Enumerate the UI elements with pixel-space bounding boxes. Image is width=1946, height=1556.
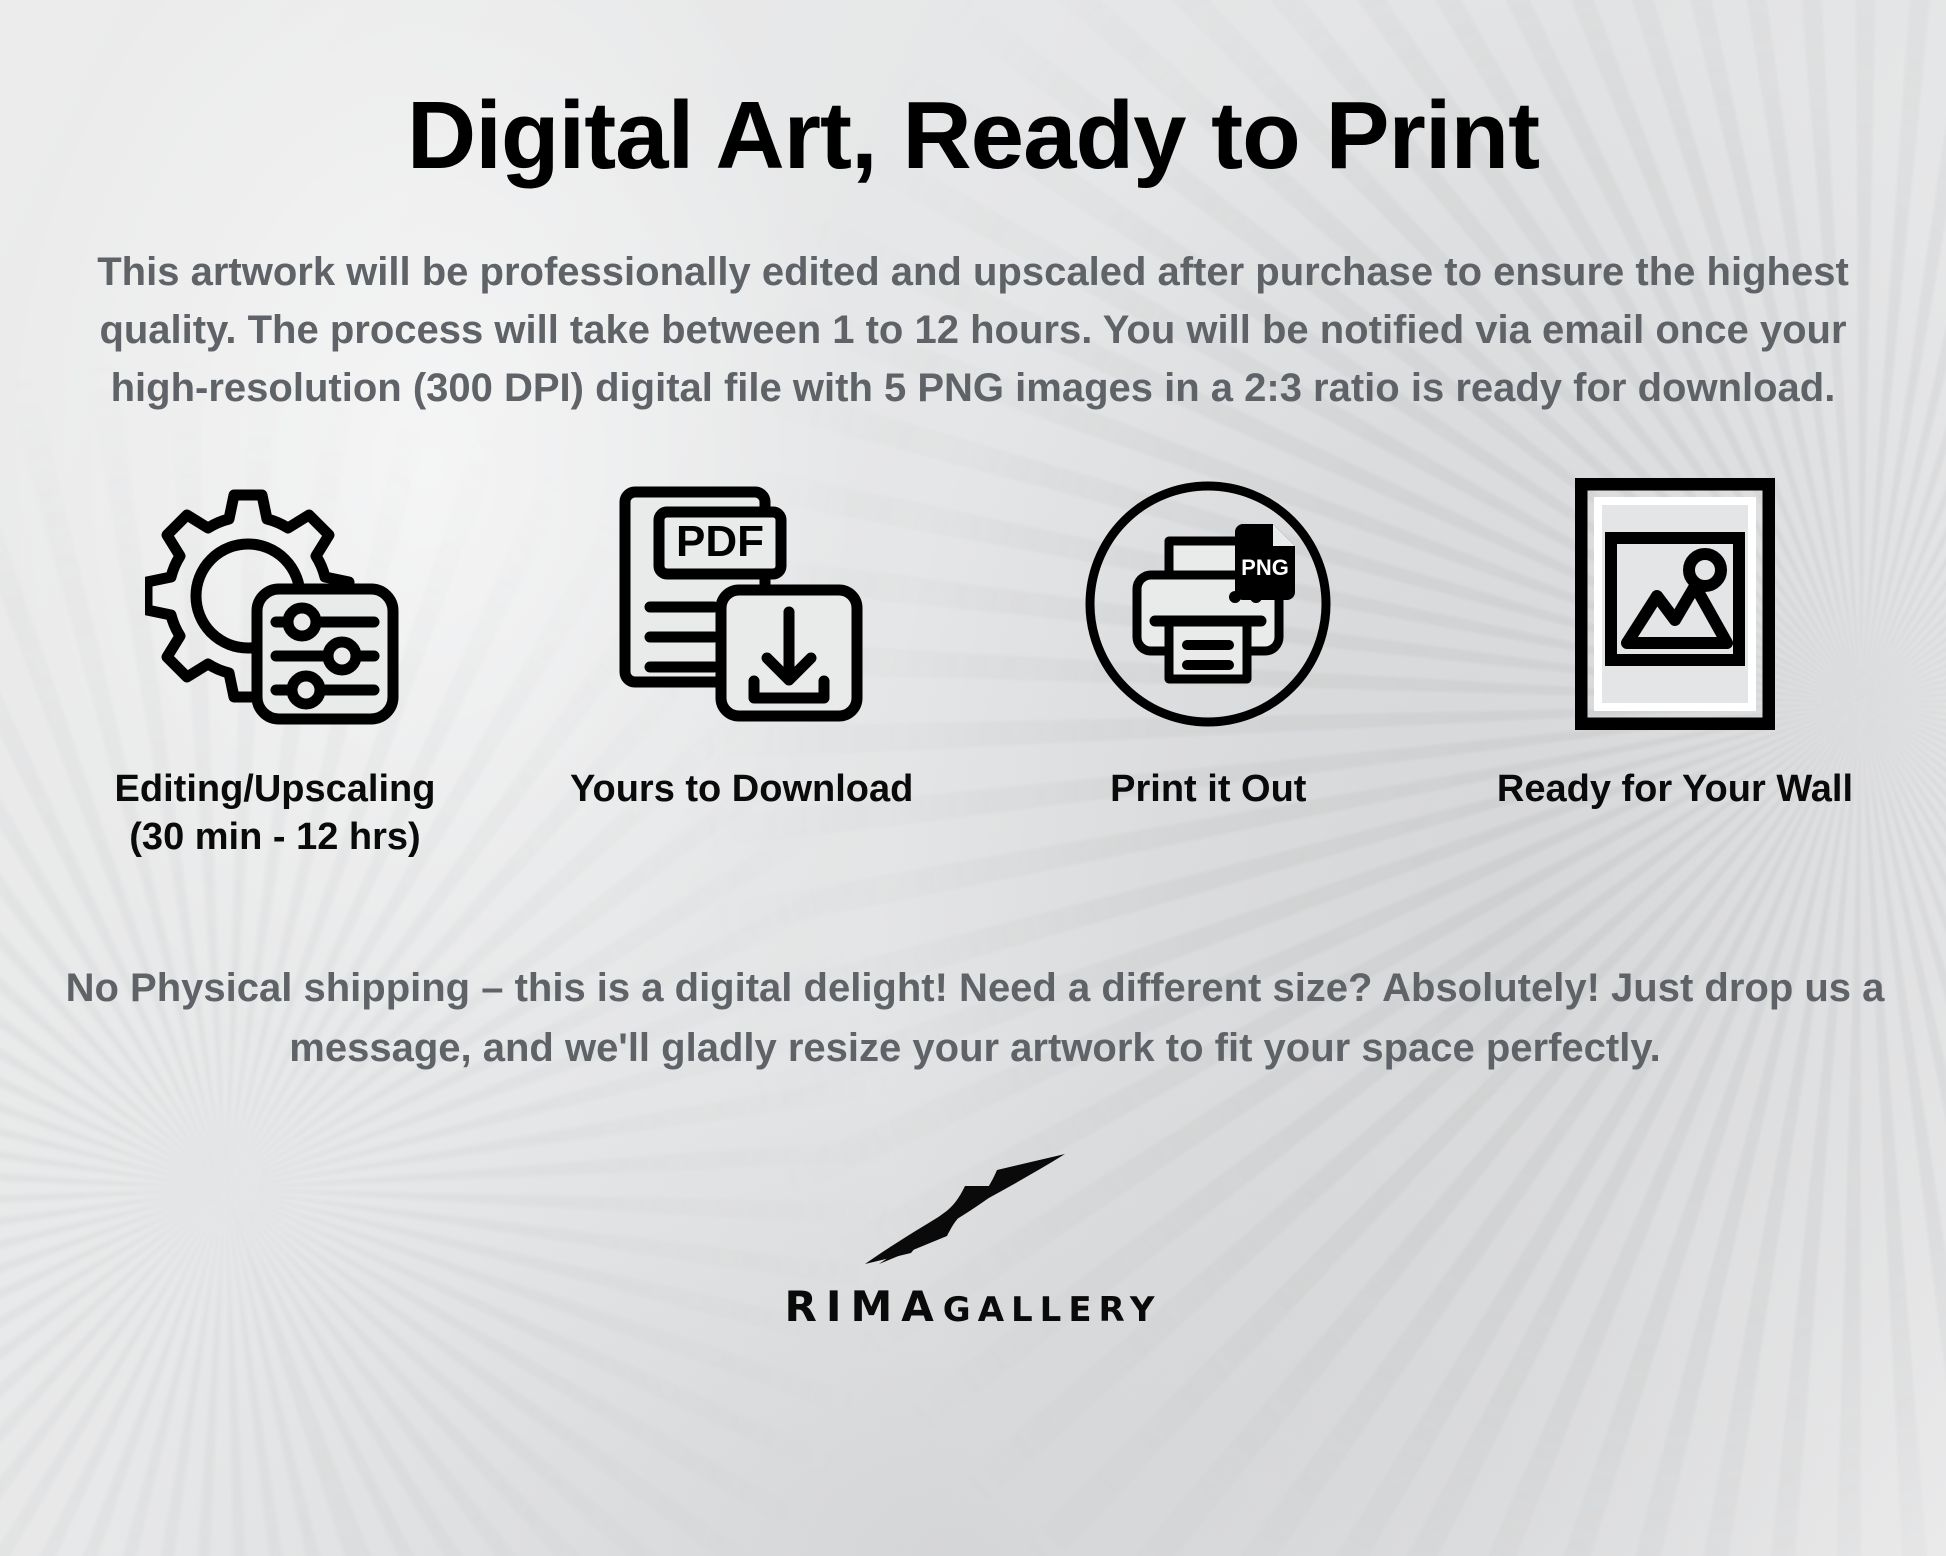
feature-row: Editing/Upscaling (30 min - 12 hrs) PDF <box>60 469 1890 862</box>
feature-label-print: Print it Out <box>1110 765 1306 814</box>
png-badge-text: PNG <box>1241 555 1289 580</box>
printer-circle-icon: PNG <box>1083 469 1333 739</box>
pdf-badge-text: PDF <box>676 517 764 566</box>
pdf-download-icon: PDF <box>617 469 867 739</box>
feature-label-editing: Editing/Upscaling (30 min - 12 hrs) <box>115 765 436 862</box>
logo-name-secondary: GALLERY <box>943 1290 1162 1330</box>
feature-item-wall: Ready for Your Wall <box>1460 469 1890 814</box>
feature-item-print: PNG Print it Out <box>993 469 1423 814</box>
brand-logo: RIMA GALLERY <box>60 1136 1886 1331</box>
logo-wordmark: RIMA GALLERY <box>785 1282 1162 1331</box>
page-title: Digital Art, Ready to Print <box>60 0 1886 187</box>
rima-swoosh-mark <box>843 1136 1103 1276</box>
feature-label-download: Yours to Download <box>570 765 913 814</box>
logo-name-primary: RIMA <box>785 1282 943 1331</box>
feature-item-download: PDF Yours to Download <box>527 469 957 814</box>
closing-paragraph: No Physical shipping – this is a digital… <box>60 958 1890 1078</box>
intro-paragraph: This artwork will be professionally edit… <box>63 243 1883 417</box>
infographic-page: Digital Art, Ready to Print This artwork… <box>0 0 1946 1556</box>
feature-label-wall: Ready for Your Wall <box>1497 765 1853 814</box>
feature-item-editing: Editing/Upscaling (30 min - 12 hrs) <box>60 469 490 862</box>
framed-picture-icon <box>1575 469 1775 739</box>
gear-sliders-icon <box>145 469 405 739</box>
